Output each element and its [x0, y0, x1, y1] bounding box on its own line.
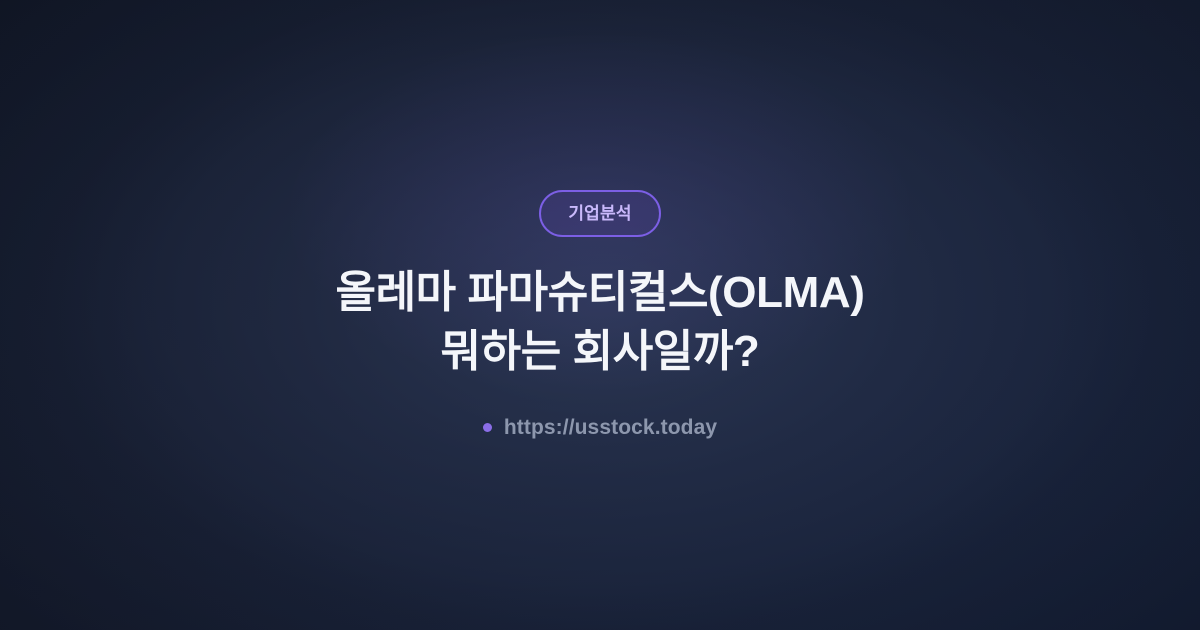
- card-content: 기업분석 올레마 파마슈티컬스(OLMA) 뭐하는 회사일까? https://…: [0, 0, 1200, 630]
- page-title-line-2: 뭐하는 회사일까?: [336, 323, 865, 382]
- category-badge[interactable]: 기업분석: [539, 190, 660, 237]
- page-title: 올레마 파마슈티컬스(OLMA) 뭐하는 회사일까?: [336, 264, 865, 382]
- site-url-label[interactable]: https://usstock.today: [504, 416, 717, 440]
- og-share-card: 기업분석 올레마 파마슈티컬스(OLMA) 뭐하는 회사일까? https://…: [0, 0, 1200, 630]
- dot-icon: [483, 423, 492, 432]
- page-title-line-1: 올레마 파마슈티컬스(OLMA): [336, 264, 865, 323]
- site-url-row: https://usstock.today: [483, 416, 717, 440]
